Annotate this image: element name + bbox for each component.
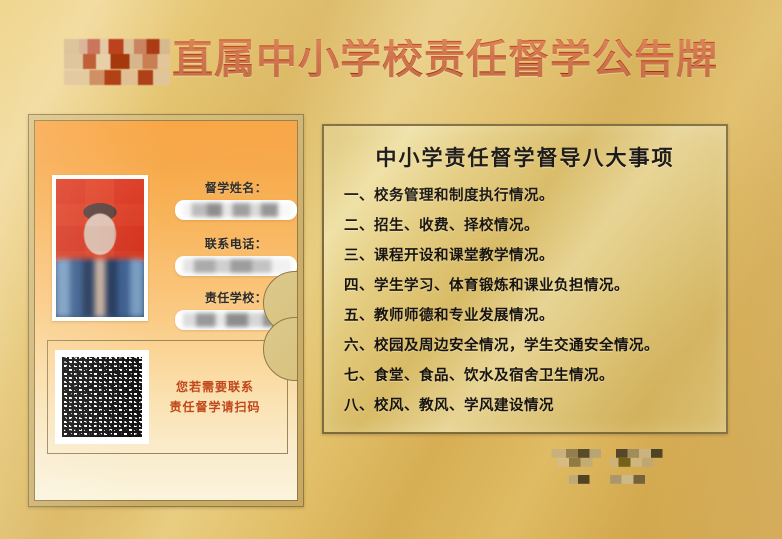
qr-caption-line-1: 您若需要联系 <box>149 377 281 397</box>
supervision-items-panel: 中小学责任督学督导八大事项 一、校务管理和制度执行情况。 二、招生、收费、择校情… <box>322 124 728 434</box>
supervision-item: 三、课程开设和课堂教学情况。 <box>344 244 712 265</box>
supervision-item: 七、食堂、食品、饮水及宿舍卫生情况。 <box>344 364 712 385</box>
footer-redacted-text <box>534 449 680 493</box>
contact-phone-input[interactable] <box>175 256 297 276</box>
supervision-item: 八、校风、教风、学风建设情况 <box>344 394 712 415</box>
qr-code-icon[interactable] <box>62 357 142 437</box>
supervisor-name-redacted-value <box>183 203 291 217</box>
page-title: 直属中小学校责任督学公告牌 <box>172 39 718 80</box>
qr-caption: 您若需要联系 责任督学请扫码 <box>149 377 287 417</box>
supervisor-photo-frame <box>52 175 148 321</box>
supervisor-info-panel: 督学姓名： 联系电话： 责任学校： <box>28 114 304 507</box>
field-supervisor-name-label: 督学姓名： <box>175 179 297 196</box>
title-redacted-prefix <box>64 39 170 85</box>
supervisor-name-input[interactable] <box>175 200 297 220</box>
supervision-item: 六、校园及周边安全情况，学生交通安全情况。 <box>344 334 712 355</box>
field-contact-phone: 联系电话： <box>175 235 297 276</box>
supervision-item: 一、校务管理和制度执行情况。 <box>344 184 712 205</box>
contact-phone-redacted-value <box>183 259 291 273</box>
qr-section: 您若需要联系 责任督学请扫码 <box>47 340 288 454</box>
supervisor-info-panel-inner: 督学姓名： 联系电话： 责任学校： <box>34 120 298 501</box>
supervisor-photo <box>56 179 144 317</box>
qr-code-frame <box>55 350 149 444</box>
public-notice-board: 直属中小学校责任督学公告牌 督学姓名： 联系电话： <box>0 0 782 539</box>
supervision-items-heading: 中小学责任督学督导八大事项 <box>338 142 712 172</box>
field-supervisor-name: 督学姓名： <box>175 179 297 220</box>
qr-caption-line-2: 责任督学请扫码 <box>149 397 281 417</box>
field-contact-phone-label: 联系电话： <box>175 235 297 252</box>
supervision-item: 二、招生、收费、择校情况。 <box>344 214 712 235</box>
supervision-item: 四、学生学习、体育锻炼和课业负担情况。 <box>344 274 712 295</box>
supervision-item: 五、教师师德和专业发展情况。 <box>344 304 712 325</box>
board-title: 直属中小学校责任督学公告牌 <box>0 28 782 90</box>
